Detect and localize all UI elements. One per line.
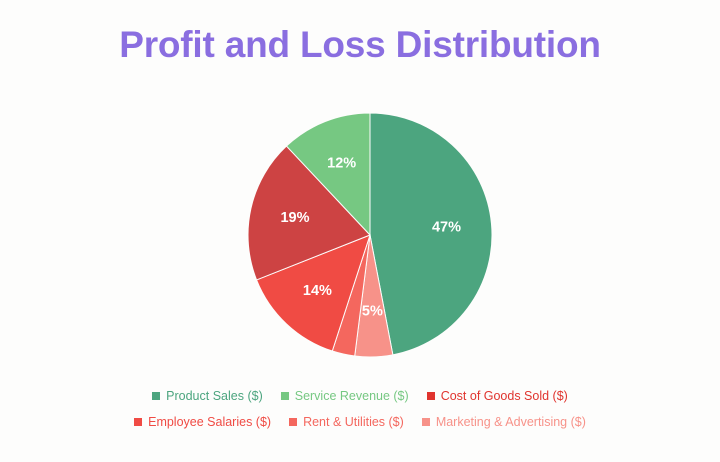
legend-item-label: Cost of Goods Sold ($): [441, 390, 568, 403]
legend-item-product-sales[interactable]: Product Sales ($): [152, 390, 263, 403]
square-icon: [289, 418, 297, 426]
square-icon: [427, 392, 435, 400]
square-icon: [422, 418, 430, 426]
pie-slice-label: 19%: [280, 210, 309, 226]
pie-slice-label: 47%: [432, 220, 461, 236]
pie-slice-label: 5%: [362, 304, 383, 320]
legend-item-label: Employee Salaries ($): [148, 416, 271, 429]
legend-item-rent-utilities[interactable]: Rent & Utilities ($): [289, 416, 404, 429]
legend-item-service-revenue[interactable]: Service Revenue ($): [281, 390, 409, 403]
square-icon: [152, 392, 160, 400]
legend-item-label: Product Sales ($): [166, 390, 263, 403]
legend: Product Sales ($) Service Revenue ($) Co…: [0, 383, 720, 435]
square-icon: [134, 418, 142, 426]
legend-row-1: Product Sales ($) Service Revenue ($) Co…: [0, 383, 720, 409]
legend-item-label: Service Revenue ($): [295, 390, 409, 403]
pie-chart-card: Profit and Loss Distribution 47%5%14%19%…: [0, 0, 720, 462]
legend-item-cost-of-goods-sold[interactable]: Cost of Goods Sold ($): [427, 390, 568, 403]
legend-item-employee-salaries[interactable]: Employee Salaries ($): [134, 416, 271, 429]
page-title: Profit and Loss Distribution: [0, 24, 720, 66]
legend-item-marketing-advertising[interactable]: Marketing & Advertising ($): [422, 416, 586, 429]
pie-chart-plot-area: 47%5%14%19%12%: [245, 110, 495, 360]
legend-item-label: Rent & Utilities ($): [303, 416, 404, 429]
pie-slice-label: 12%: [327, 155, 356, 171]
legend-item-label: Marketing & Advertising ($): [436, 416, 586, 429]
legend-row-2: Employee Salaries ($) Rent & Utilities (…: [0, 409, 720, 435]
pie-slice-label: 14%: [303, 283, 332, 299]
square-icon: [281, 392, 289, 400]
pie-chart-svg: 47%5%14%19%12%: [245, 110, 495, 360]
